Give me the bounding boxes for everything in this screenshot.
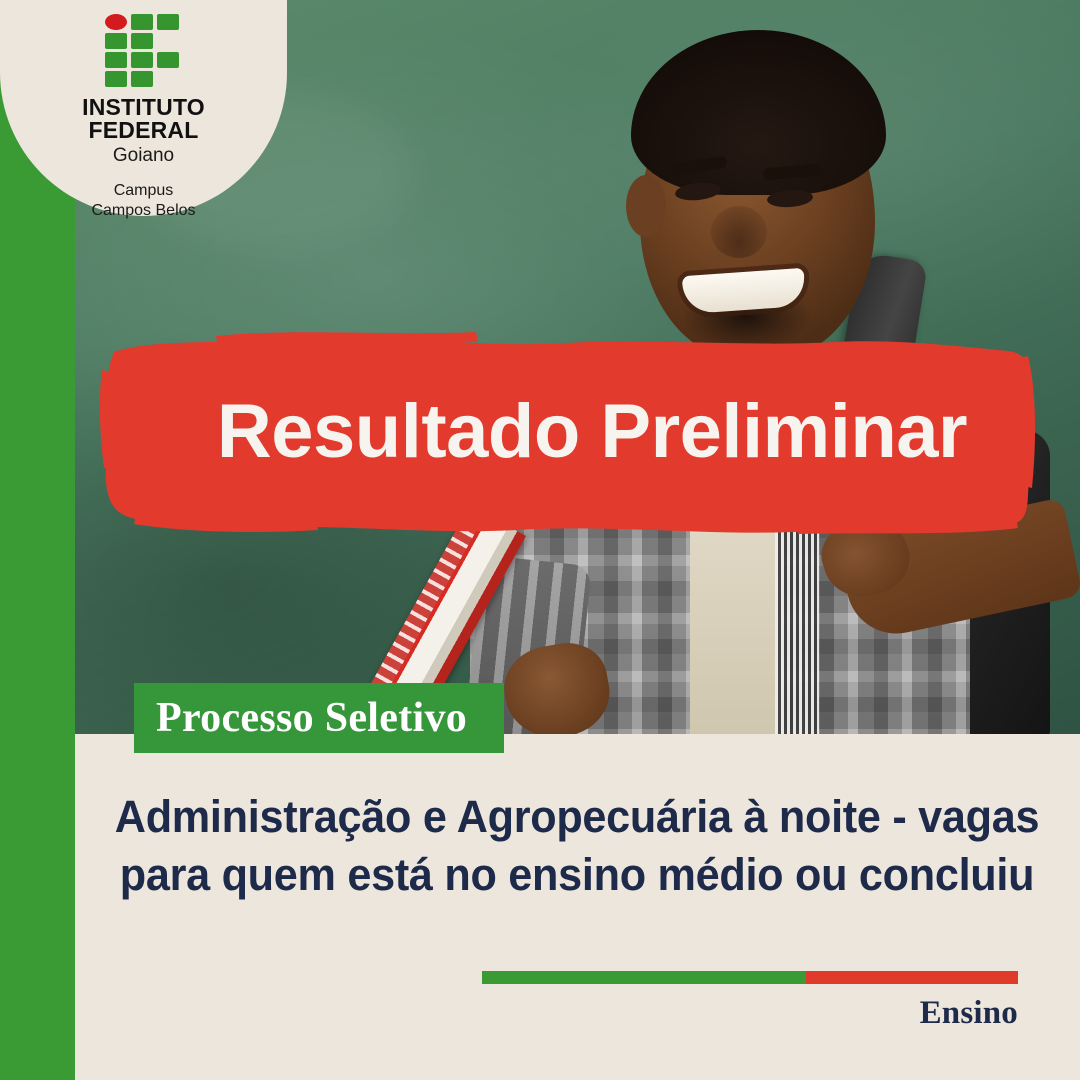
if-cell [157,52,179,68]
ear [626,175,666,237]
if-cell [105,33,127,49]
footer-category: Ensino [700,995,1018,1032]
if-cell [131,52,153,68]
if-cell [105,71,127,87]
footer-bar-green [482,971,806,984]
if-cell-empty [157,71,179,87]
if-red-dot [105,14,127,30]
processo-seletivo-tag: Processo Seletivo [134,683,504,753]
logo-institute-name: INSTITUTO FEDERAL [82,96,205,142]
if-cell [131,33,153,49]
logo-campus-name: Campos Belos [91,201,195,221]
footer-bar-red [806,971,1018,984]
footer-color-bar [482,971,1018,984]
headline: Administração e Agropecuária à noite - v… [102,788,1052,903]
nose [711,206,767,258]
if-cell [105,52,127,68]
if-cell [131,71,153,87]
if-cell-empty [157,33,179,49]
logo-institute-line1: INSTITUTO [82,96,205,119]
if-grid-icon [105,14,183,87]
poster: INSTITUTO FEDERAL Goiano Campus Campos B… [0,0,1080,1080]
if-cell [157,14,179,30]
logo-state-name: Goiano [113,145,174,167]
logo-campus: Campus Campos Belos [91,181,195,221]
result-banner: Resultado Preliminar [96,318,1036,544]
if-cell [131,14,153,30]
processo-seletivo-label: Processo Seletivo [156,694,467,742]
logo-campus-label: Campus [91,181,195,201]
logo-institute-line2: FEDERAL [82,119,205,142]
banner-title: Resultado Preliminar [96,318,1036,544]
